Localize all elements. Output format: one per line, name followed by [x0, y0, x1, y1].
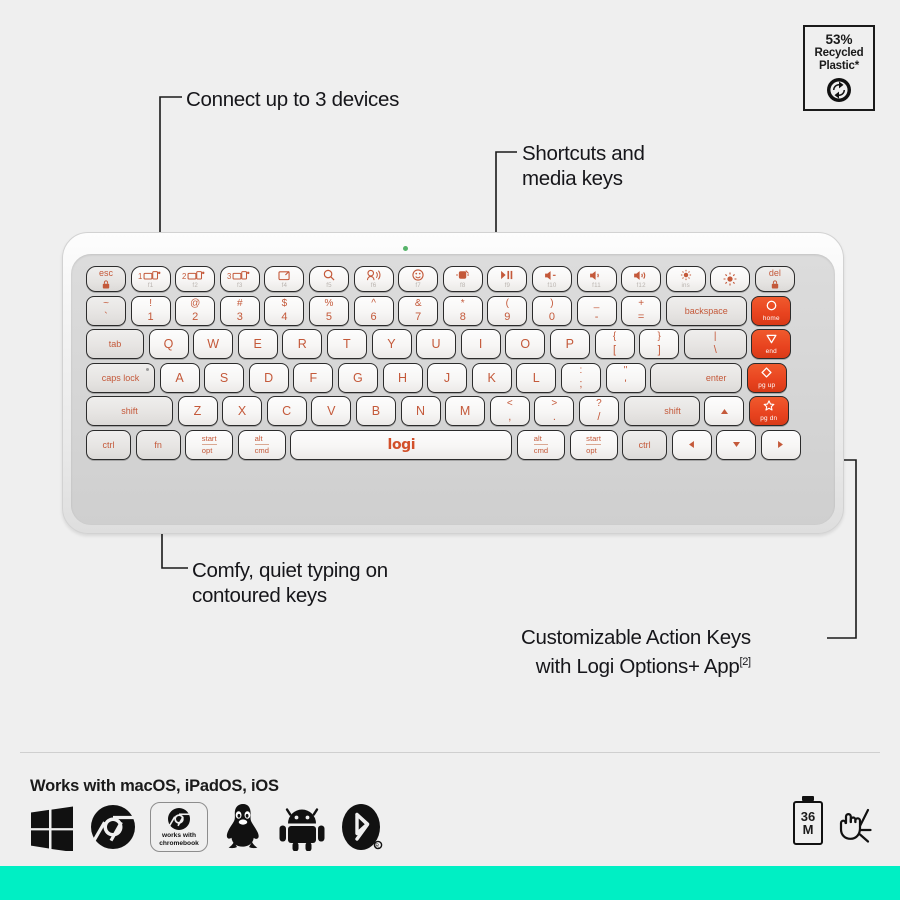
action-key-home[interactable]: home [751, 296, 791, 326]
section-divider [20, 752, 880, 753]
key-esc[interactable]: esc [86, 266, 126, 292]
battery-life-icon: 36 M [793, 801, 823, 845]
key-w[interactable]: W [193, 329, 233, 359]
key-bracket-right-top: } [657, 332, 660, 342]
key-f8-mic-mute[interactable]: f8 [443, 266, 483, 292]
chrome-icon [167, 807, 191, 831]
action-key-end[interactable]: end [751, 329, 791, 359]
key-r[interactable]: R [282, 329, 322, 359]
key-row-qwerty: tab Q W E R T Y U I O P {[ }] |\ end [86, 329, 830, 359]
key-f1-device-1[interactable]: 1 f1 [131, 266, 171, 292]
callout-action-line2-text: with Logi Options+ App [536, 655, 740, 678]
key-comma[interactable]: <, [490, 396, 530, 426]
key-k-label: K [487, 371, 496, 385]
key-f4-fnlabel: f4 [282, 282, 288, 289]
key-y[interactable]: Y [372, 329, 412, 359]
key-f4-screenshot[interactable]: f4 [264, 266, 304, 292]
linux-tux-icon [221, 802, 265, 852]
key-w-label: W [207, 337, 219, 351]
key-e[interactable]: E [238, 329, 278, 359]
key-l-label: L [533, 371, 540, 385]
key-shift-right-label: shift [664, 406, 681, 416]
key-z[interactable]: Z [178, 396, 218, 426]
key-t-label: T [343, 337, 351, 351]
key-f11-fnlabel: f11 [592, 282, 601, 289]
key-row-modifiers: ctrl fn start opt alt cmd logi [86, 430, 830, 460]
key-d-label: D [264, 371, 273, 385]
compat-title: Works with macOS, iPadOS, iOS [30, 777, 279, 796]
key-1[interactable]: !1 [131, 296, 171, 326]
key-9-bot: 9 [504, 312, 510, 323]
key-spacebar[interactable]: logi [290, 430, 512, 460]
action-key-end-label: end [766, 348, 777, 355]
action-key-pgup-label: pg up [758, 382, 775, 389]
key-f6-dictation[interactable]: f6 [354, 266, 394, 292]
callout-typing-line1: Comfy, quiet typing on [192, 558, 388, 583]
key-q-label: Q [164, 337, 174, 351]
key-bracket-left-top: { [613, 332, 616, 342]
key-3-bot: 3 [237, 312, 243, 323]
key-e-label: E [254, 337, 263, 351]
key-enter[interactable]: enter [650, 363, 742, 393]
key-j-label: J [444, 371, 450, 385]
key-equals-bot: = [638, 312, 644, 323]
key-alt-cmd-right-stack: alt cmd [534, 434, 548, 455]
key-opt-right-label: opt [586, 445, 601, 455]
key-8[interactable]: *8 [443, 296, 483, 326]
key-f6-fnlabel: f6 [371, 282, 377, 289]
volume-up-icon [633, 269, 649, 281]
key-brightness-up[interactable] [710, 266, 750, 292]
key-o[interactable]: O [505, 329, 545, 359]
key-arrow-right[interactable] [761, 430, 801, 460]
key-ins-fnlabel: ins [681, 282, 690, 289]
key-bracket-left[interactable]: {[ [595, 329, 635, 359]
key-backslash-top: | [714, 332, 717, 342]
key-1-bot: 1 [148, 312, 154, 323]
key-4-top: $ [282, 299, 288, 309]
callout-footnote-marker: [2] [739, 656, 750, 668]
key-5-bot: 5 [326, 312, 332, 323]
key-fn[interactable]: fn [136, 430, 181, 460]
key-alt-cmd-left[interactable]: alt cmd [238, 430, 286, 460]
callout-connect-text: Connect up to 3 devices [186, 87, 399, 112]
key-h-label: H [398, 371, 407, 385]
key-v[interactable]: V [311, 396, 351, 426]
key-f12-fnlabel: f12 [637, 282, 646, 289]
key-5[interactable]: %5 [309, 296, 349, 326]
key-caps-lock[interactable]: caps lock [86, 363, 155, 393]
key-2-bot: 2 [192, 312, 198, 323]
key-caps-lock-label: caps lock [102, 373, 140, 383]
key-0-top: ) [550, 299, 553, 309]
key-start-right-label: start [586, 434, 601, 445]
key-alt-cmd-right[interactable]: alt cmd [517, 430, 565, 460]
key-c-label: C [282, 404, 291, 418]
key-f5-search[interactable]: f5 [309, 266, 349, 292]
key-backslash[interactable]: |\ [684, 329, 747, 359]
volume-mute-icon [544, 269, 559, 281]
lock-icon [771, 278, 779, 290]
status-led [403, 246, 408, 251]
key-tab-label: tab [109, 339, 122, 349]
key-8-top: * [461, 299, 465, 309]
spec-icon-row: 36 M [793, 800, 872, 846]
key-n-label: N [416, 404, 425, 418]
key-0-bot: 0 [549, 312, 555, 323]
key-row-function: esc 1 f1 [86, 266, 830, 292]
key-3[interactable]: #3 [220, 296, 260, 326]
play-pause-icon [500, 269, 514, 281]
key-quote-top: " [624, 366, 628, 376]
mic-mute-icon [456, 269, 470, 281]
key-k[interactable]: K [472, 363, 512, 393]
device-icon: 2 [182, 269, 208, 281]
chrome-icon [89, 803, 137, 851]
key-f10-volume-mute[interactable]: f10 [532, 266, 572, 292]
key-bracket-left-bot: [ [613, 345, 616, 356]
key-backtick-bot: ` [104, 312, 108, 323]
key-6[interactable]: ^6 [354, 296, 394, 326]
screenshot-icon [278, 269, 291, 281]
action-key-pgdn[interactable]: pg dn [749, 396, 789, 426]
key-fn-label: fn [154, 440, 162, 450]
key-del[interactable]: del [755, 266, 795, 292]
key-z-label: Z [194, 404, 202, 418]
arrow-left-icon [688, 439, 695, 451]
chromebook-badge-icon: works with chromebook [150, 802, 208, 852]
key-del-label: del [769, 268, 781, 278]
key-backslash-bot: \ [714, 345, 717, 356]
key-f9-play-pause[interactable]: f9 [487, 266, 527, 292]
android-icon [278, 803, 326, 851]
key-p[interactable]: P [550, 329, 590, 359]
key-opt-left-label: opt [202, 445, 217, 455]
key-ctrl-right-label: ctrl [639, 440, 651, 450]
svg-text:R: R [375, 844, 379, 850]
action-key-pgup[interactable]: pg up [747, 363, 787, 393]
callout-typing: Comfy, quiet typing on contoured keys [192, 558, 388, 608]
svg-text:1: 1 [138, 271, 142, 280]
key-tab[interactable]: tab [86, 329, 144, 359]
dictation-icon [366, 269, 381, 281]
key-row-numbers: ~ ` !1 @2 #3 $4 %5 ^6 &7 *8 (9 )0 _- += … [86, 296, 830, 326]
key-alt-right-label: alt [534, 434, 548, 445]
key-shift-left-label: shift [121, 406, 138, 416]
key-ctrl-right[interactable]: ctrl [622, 430, 667, 460]
battery-unit: M [803, 823, 814, 836]
key-3-top: # [237, 299, 243, 309]
key-9[interactable]: (9 [487, 296, 527, 326]
key-period-bot: . [553, 412, 556, 423]
key-t[interactable]: T [327, 329, 367, 359]
callout-action-line2: with Logi Options+ App[2] [521, 650, 751, 679]
compat-icon-row: works with chromebook R [28, 802, 383, 852]
key-4-bot: 4 [281, 312, 287, 323]
key-a[interactable]: A [160, 363, 200, 393]
key-start-opt-left-stack: start opt [202, 434, 217, 455]
callout-shortcuts-line1: Shortcuts and [522, 141, 645, 166]
quiet-typing-icon [832, 800, 872, 846]
key-arrow-left[interactable] [672, 430, 712, 460]
key-f12-volume-up[interactable]: f12 [621, 266, 661, 292]
key-g[interactable]: G [338, 363, 378, 393]
key-arrow-up[interactable] [704, 396, 744, 426]
circle-icon [766, 300, 777, 314]
key-6-top: ^ [371, 299, 376, 309]
key-j[interactable]: J [427, 363, 467, 393]
key-f11-volume-down[interactable]: f11 [577, 266, 617, 292]
key-f7-emoji[interactable]: f7 [398, 266, 438, 292]
key-ctrl-left-label: ctrl [103, 440, 115, 450]
key-semicolon-bot: ; [579, 379, 582, 390]
svg-text:2: 2 [182, 271, 186, 280]
key-start-opt-right[interactable]: start opt [570, 430, 618, 460]
logi-logo: logi [388, 437, 416, 453]
triangle-icon [766, 334, 777, 347]
key-start-opt-right-stack: start opt [586, 434, 601, 455]
key-minus-top: _ [594, 299, 600, 309]
key-4[interactable]: $4 [264, 296, 304, 326]
key-h[interactable]: H [383, 363, 423, 393]
brightness-up-icon [723, 273, 737, 285]
key-comma-bot: , [508, 412, 511, 423]
key-backtick-top: ~ [103, 299, 109, 309]
action-key-home-label: home [763, 315, 780, 322]
keyboard: esc 1 f1 [62, 232, 844, 534]
key-f[interactable]: F [293, 363, 333, 393]
key-enter-label: enter [706, 373, 727, 383]
key-f2-fnlabel: f2 [192, 282, 198, 289]
key-f-label: F [309, 371, 317, 385]
key-b-label: B [372, 404, 381, 418]
key-alt-left-label: alt [255, 434, 269, 445]
arrow-up-icon [720, 405, 729, 417]
star-icon [763, 400, 775, 414]
svg-text:3: 3 [227, 271, 231, 280]
key-f2-device-2[interactable]: 2 f2 [175, 266, 215, 292]
bluetooth-icon: R [339, 802, 383, 852]
key-bracket-right-bot: ] [658, 345, 661, 356]
callout-shortcuts: Shortcuts and media keys [522, 141, 645, 191]
lock-icon [102, 278, 110, 290]
key-ctrl-left[interactable]: ctrl [86, 430, 131, 460]
key-a-label: A [175, 371, 184, 385]
key-f8-fnlabel: f8 [460, 282, 466, 289]
key-i[interactable]: I [461, 329, 501, 359]
key-semicolon-top: : [580, 366, 583, 376]
key-f3-fnlabel: f3 [237, 282, 243, 289]
key-7[interactable]: &7 [398, 296, 438, 326]
key-start-opt-left[interactable]: start opt [185, 430, 233, 460]
key-equals[interactable]: += [621, 296, 661, 326]
key-esc-label: esc [99, 268, 113, 278]
key-comma-top: < [507, 399, 513, 409]
key-shift-right[interactable]: shift [624, 396, 700, 426]
key-backspace-label: backspace [685, 306, 728, 316]
key-row-shift: shift Z X C V B N M <, >. ?/ shift pg dn [86, 396, 830, 426]
key-u-label: U [432, 337, 441, 351]
key-period-top: > [551, 399, 557, 409]
key-quote-bot: ' [624, 379, 626, 390]
key-s-label: S [220, 371, 229, 385]
diamond-icon [761, 367, 772, 381]
infographic-canvas: 53% Recycled Plastic* Connect up to 3 de… [0, 0, 900, 900]
key-b[interactable]: B [356, 396, 396, 426]
key-f7-fnlabel: f7 [415, 282, 421, 289]
key-slash[interactable]: ?/ [579, 396, 619, 426]
key-brightness-down[interactable]: ins [666, 266, 706, 292]
key-m[interactable]: M [445, 396, 485, 426]
device-icon: 1 [138, 269, 164, 281]
key-v-label: V [327, 404, 336, 418]
key-5-top: % [325, 299, 334, 309]
key-slash-top: ? [596, 399, 602, 409]
key-f1-fnlabel: f1 [148, 282, 154, 289]
callout-typing-line2: contoured keys [192, 583, 388, 608]
key-equals-top: + [638, 299, 644, 309]
key-f9-fnlabel: f9 [505, 282, 511, 289]
key-y-label: Y [387, 337, 396, 351]
key-2-top: @ [190, 299, 200, 309]
key-8-bot: 8 [460, 312, 466, 323]
key-x[interactable]: X [222, 396, 262, 426]
arrow-right-icon [777, 439, 784, 451]
footer-accent-bar [0, 866, 900, 900]
key-p-label: P [566, 337, 575, 351]
key-f3-device-3[interactable]: 3 f3 [220, 266, 260, 292]
key-n[interactable]: N [401, 396, 441, 426]
key-q[interactable]: Q [149, 329, 189, 359]
caps-lock-led-icon [146, 368, 149, 371]
emoji-icon [412, 269, 424, 281]
key-m-label: M [460, 404, 471, 418]
device-icon: 3 [227, 269, 253, 281]
key-shift-left[interactable]: shift [86, 396, 173, 426]
key-period[interactable]: >. [534, 396, 574, 426]
key-6-bot: 6 [371, 312, 377, 323]
key-minus[interactable]: _- [577, 296, 617, 326]
key-rows: esc 1 f1 [86, 266, 830, 464]
key-d[interactable]: D [249, 363, 289, 393]
key-backtick[interactable]: ~ ` [86, 296, 126, 326]
key-7-bot: 7 [415, 312, 421, 323]
volume-down-icon [589, 269, 604, 281]
key-row-home: caps lock A S D F G H J K L :; "' enter … [86, 363, 830, 393]
key-alt-cmd-left-stack: alt cmd [255, 434, 269, 455]
key-1-top: ! [149, 299, 152, 309]
key-backspace[interactable]: backspace [666, 296, 747, 326]
key-start-left-label: start [202, 434, 217, 445]
chromebook-line-2: chromebook [159, 840, 199, 847]
key-i-label: I [479, 337, 483, 351]
key-2[interactable]: @2 [175, 296, 215, 326]
key-f5-fnlabel: f5 [326, 282, 332, 289]
search-icon [323, 269, 335, 281]
key-bracket-right[interactable]: }] [639, 329, 679, 359]
key-u[interactable]: U [416, 329, 456, 359]
key-o-label: O [520, 337, 530, 351]
key-c[interactable]: C [267, 396, 307, 426]
key-r-label: R [298, 337, 307, 351]
key-cmd-right-label: cmd [534, 445, 548, 455]
action-key-pgdn-label: pg dn [760, 415, 777, 422]
arrow-down-icon [732, 439, 741, 451]
key-f10-fnlabel: f10 [547, 282, 556, 289]
key-7-top: & [415, 299, 422, 309]
callout-shortcuts-line2: media keys [522, 166, 645, 191]
key-s[interactable]: S [204, 363, 244, 393]
key-quote[interactable]: "' [606, 363, 646, 393]
callout-connect-devices: Connect up to 3 devices [186, 87, 399, 112]
key-semicolon[interactable]: :; [561, 363, 601, 393]
key-9-top: ( [506, 299, 509, 309]
chromebook-line-1: works with [162, 832, 196, 839]
key-minus-bot: - [595, 312, 599, 323]
key-arrow-down[interactable] [716, 430, 756, 460]
key-slash-bot: / [597, 412, 600, 423]
brightness-down-icon [680, 269, 692, 281]
callout-action-keys: Customizable Action Keys with Logi Optio… [521, 625, 751, 679]
key-l[interactable]: L [516, 363, 556, 393]
key-g-label: G [353, 371, 363, 385]
windows-icon [28, 803, 76, 851]
key-cmd-left-label: cmd [255, 445, 269, 455]
key-0[interactable]: )0 [532, 296, 572, 326]
key-x-label: X [238, 404, 247, 418]
callout-action-line1: Customizable Action Keys [521, 625, 751, 650]
